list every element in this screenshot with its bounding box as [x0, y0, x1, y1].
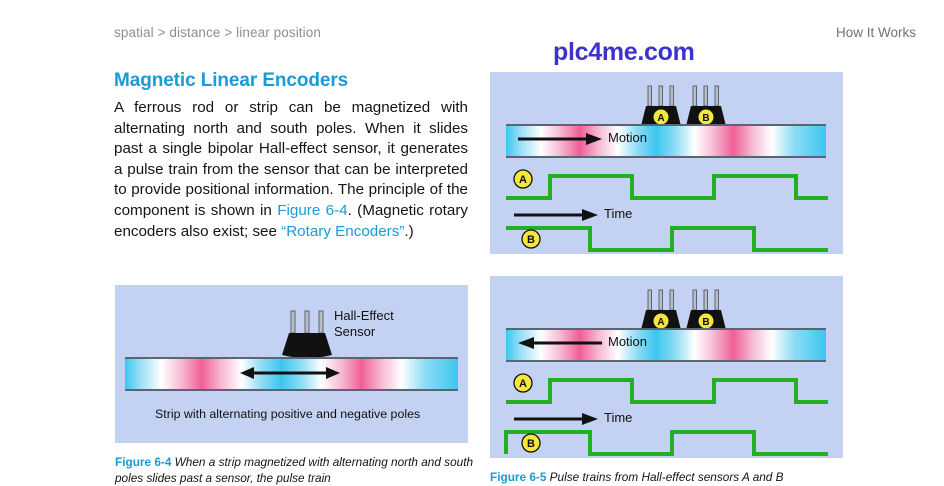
waveform-trace-a — [506, 374, 828, 408]
waveform-trace-b — [506, 222, 828, 256]
figure-6-4-caption: Figure 6-4 When a strip magnetized with … — [115, 455, 475, 486]
time-label: Time — [604, 410, 632, 425]
motion-arrow-left-icon — [518, 336, 602, 350]
svg-text:B: B — [702, 113, 709, 124]
trace-b-badge: B — [520, 432, 542, 454]
svg-text:B: B — [527, 438, 535, 450]
figure-6-5-caption: Figure 6-5 Pulse trains from Hall-effect… — [490, 470, 860, 486]
body-paragraph: A ferrous rod or strip can be magnetized… — [114, 98, 468, 242]
figure-6-5-caption-text: Pulse trains from Hall-effect sensors A … — [550, 470, 784, 484]
waveform-trace-b — [506, 426, 828, 460]
trace-b-badge: B — [520, 228, 542, 250]
bidirectional-motion-arrow-icon — [240, 365, 340, 381]
paragraph-text-1: A ferrous rod or strip can be magnetized… — [114, 99, 468, 219]
motion-label: Motion — [608, 334, 647, 349]
svg-text:A: A — [657, 113, 664, 124]
hall-effect-sensor-icon — [275, 311, 345, 361]
time-arrow-icon — [514, 208, 598, 222]
figure-6-4-link[interactable]: Figure 6-4 — [277, 202, 347, 219]
paragraph-text-3: .) — [404, 223, 413, 240]
time-label: Time — [604, 206, 632, 221]
motion-arrow-right-icon — [518, 132, 602, 146]
trace-a-badge: A — [512, 372, 534, 394]
motion-label: Motion — [608, 130, 647, 145]
svg-text:A: A — [519, 378, 527, 390]
article-column: Magnetic Linear Encoders A ferrous rod o… — [114, 70, 468, 242]
figure-6-5-caption-number: Figure 6-5 — [490, 470, 546, 484]
strip-caption: Strip with alternating positive and nega… — [155, 407, 420, 421]
svg-text:B: B — [527, 234, 535, 246]
svg-text:A: A — [657, 317, 664, 328]
svg-text:A: A — [519, 174, 527, 186]
figure-6-5-panel-right-motion: A B Motion A — [490, 72, 843, 254]
trace-a-badge: A — [512, 168, 534, 190]
figure-6-4-diagram: Hall-Effect Sensor Strip with alternatin… — [115, 285, 468, 443]
watermark: plc4me.com — [553, 38, 695, 67]
section-label: How It Works — [836, 25, 916, 40]
time-arrow-icon — [514, 412, 598, 426]
rotary-encoders-link[interactable]: “Rotary Encoders” — [281, 223, 404, 240]
page-title: Magnetic Linear Encoders — [114, 70, 468, 92]
waveform-trace-a — [506, 170, 828, 204]
document-page: spatial > distance > linear position How… — [0, 0, 944, 484]
breadcrumb[interactable]: spatial > distance > linear position — [114, 25, 321, 40]
figure-6-5-panel-left-motion: A B Motion A — [490, 276, 843, 458]
figure-6-4-caption-number: Figure 6-4 — [115, 455, 171, 469]
svg-text:B: B — [702, 317, 709, 328]
